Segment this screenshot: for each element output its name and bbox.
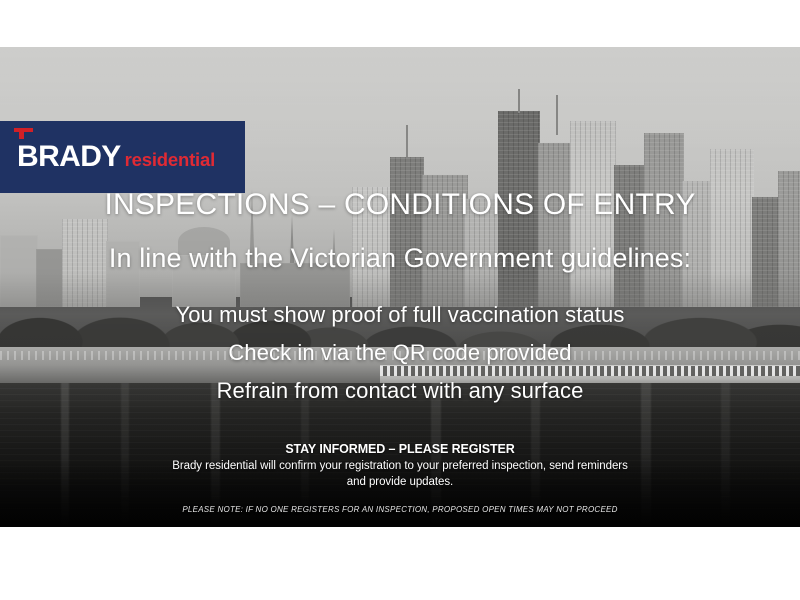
page-title: INSPECTIONS – CONDITIONS OF ENTRY: [0, 188, 800, 222]
conditions-list: You must show proof of full vaccination …: [0, 296, 800, 410]
poster-root: INSPECTIONS – CONDITIONS OF ENTRY In lin…: [0, 0, 800, 600]
condition-item: Refrain from contact with any surface: [0, 372, 800, 410]
brand-name-secondary: residential: [125, 149, 215, 171]
brand-logo: BRADY residential: [0, 121, 245, 193]
condition-item: Check in via the QR code provided: [0, 334, 800, 372]
register-line-2: and provide updates.: [0, 474, 800, 490]
register-title: STAY INFORMED – PLEASE REGISTER: [0, 441, 800, 458]
subheading: In line with the Victorian Government gu…: [0, 243, 800, 274]
register-block: STAY INFORMED – PLEASE REGISTER Brady re…: [0, 441, 800, 490]
disclaimer-note: PLEASE NOTE: IF NO ONE REGISTERS FOR AN …: [0, 505, 800, 514]
register-line-1: Brady residential will confirm your regi…: [0, 458, 800, 474]
condition-item: You must show proof of full vaccination …: [0, 296, 800, 334]
overlay-text-layer: INSPECTIONS – CONDITIONS OF ENTRY In lin…: [0, 47, 800, 527]
roof-icon: [14, 128, 33, 139]
banner-photo: INSPECTIONS – CONDITIONS OF ENTRY In lin…: [0, 47, 800, 527]
brand-logo-inner: BRADY residential: [17, 140, 215, 174]
brand-name-primary: BRADY: [17, 140, 121, 174]
